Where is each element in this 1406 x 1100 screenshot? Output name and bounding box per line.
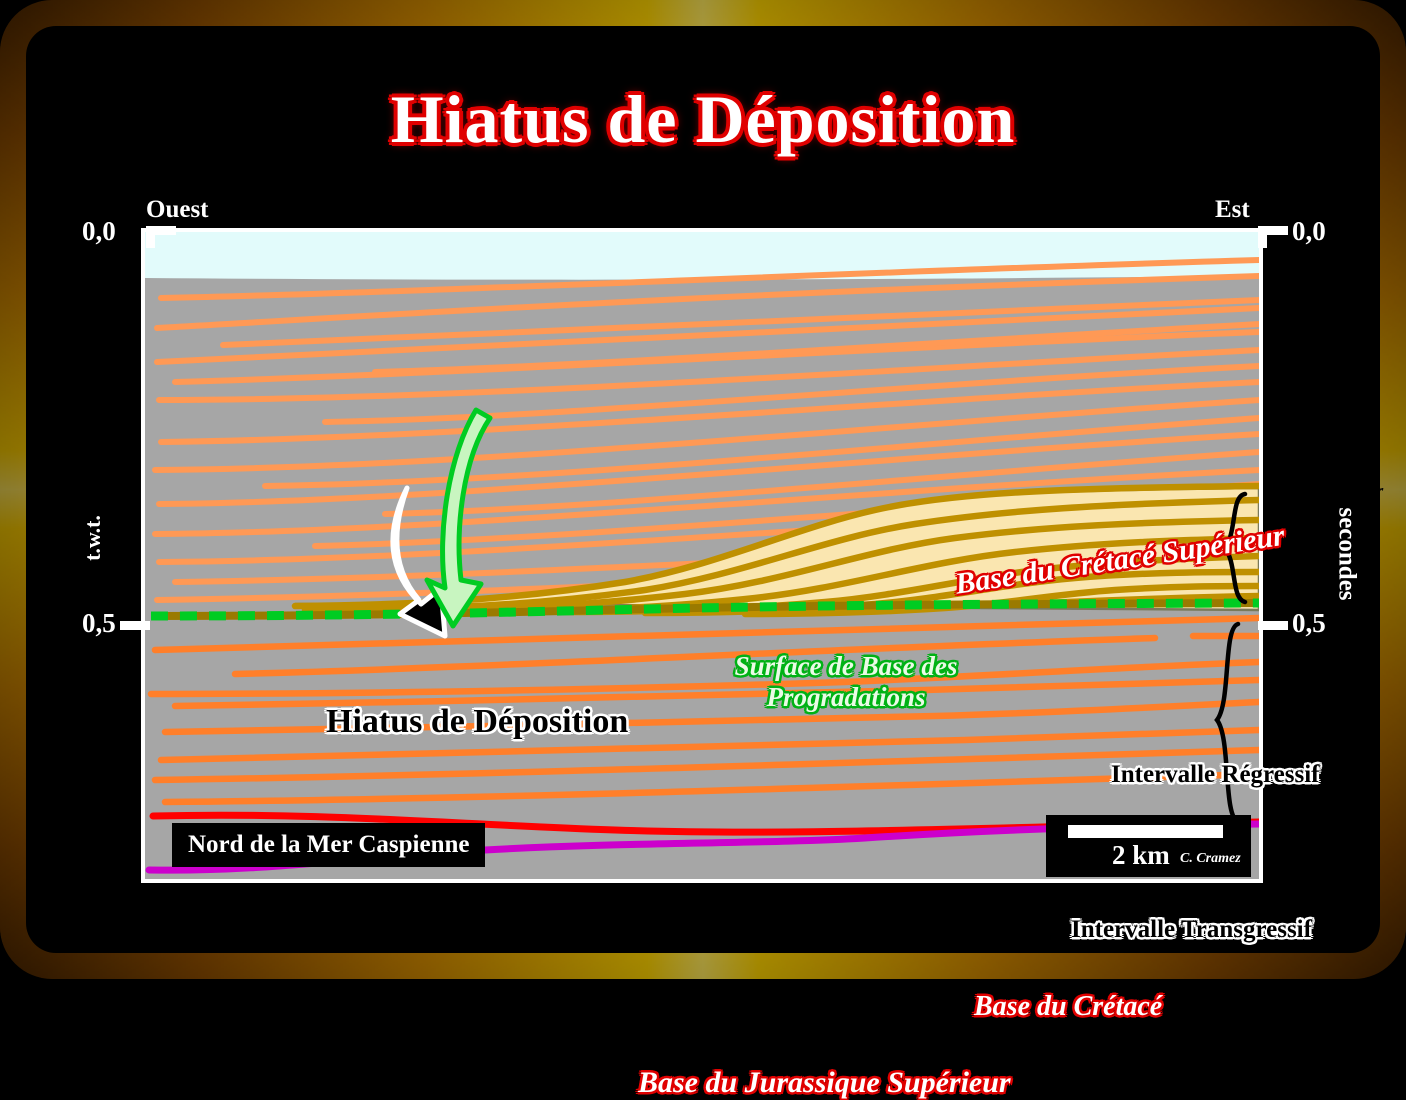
axis-tick-label-mid-right: 0,5 — [1292, 608, 1326, 639]
axis-tick-label-top-right: 0,0 — [1292, 216, 1326, 247]
scale-bar — [1068, 825, 1223, 838]
page-title: Hiatus de Déposition — [0, 80, 1406, 159]
seismic-canvas — [145, 232, 1259, 879]
seismic-vector-layer — [145, 232, 1259, 879]
axis-title-twt: t.w.t. — [80, 515, 106, 561]
axis-corner-top-left — [146, 226, 155, 248]
label-base-upper-jurassic: Base du Jurassique Supérieur — [638, 1066, 1011, 1100]
axis-corner-top-right — [1258, 226, 1267, 248]
seismic-section-panel: Fond de la mer Base du Crétacé Supérieur… — [141, 228, 1263, 883]
axis-tick-label-mid-left: 0,5 — [82, 608, 116, 639]
label-base-cretaceous: Base du Crétacé — [974, 991, 1162, 1023]
credit-label: C. Cramez — [1180, 851, 1241, 867]
axis-tick-label-top-left: 0,0 — [82, 216, 116, 247]
scale-bar-label: 2 km — [1112, 840, 1170, 871]
water-column — [145, 232, 1259, 280]
scale-bar-box: 2 km C. Cramez — [1046, 815, 1251, 877]
direction-label-west: Ouest — [146, 196, 209, 224]
direction-label-east: Est — [1215, 196, 1250, 224]
axis-tick-mid-right — [1258, 621, 1288, 630]
location-badge: Nord de la Mer Caspienne — [172, 823, 485, 867]
axis-tick-mid-left — [120, 621, 150, 630]
axis-title-secondes: secondes — [1333, 507, 1361, 600]
